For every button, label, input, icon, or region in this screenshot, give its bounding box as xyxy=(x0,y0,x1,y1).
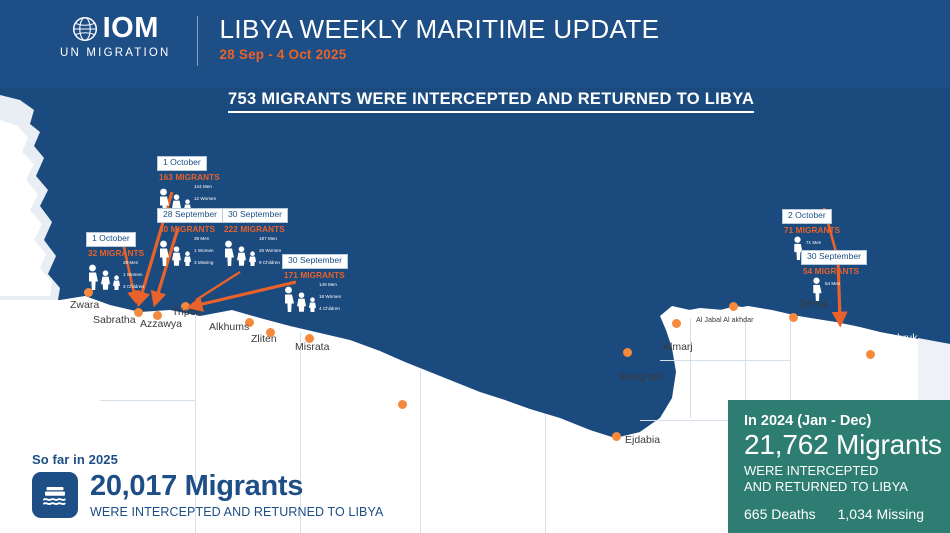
admin-border xyxy=(660,360,790,361)
callout-date: 1 October xyxy=(157,156,207,171)
city-dot-benghazi xyxy=(623,348,632,357)
city-label-ejdabia: Ejdabia xyxy=(625,434,660,446)
infographic-root: IOM UN MIGRATION LIBYA WEEKLY MARITIME U… xyxy=(0,0,950,533)
man-icon xyxy=(222,240,235,266)
panel-2024: In 2024 (Jan - Dec) 21,762 Migrants WERE… xyxy=(728,400,950,533)
stat-2025-block: So far in 2025 20,017 Migrants WERE INTE… xyxy=(32,452,383,519)
date-range: 28 Sep - 4 Oct 2025 xyxy=(220,47,660,62)
woman-icon xyxy=(236,246,247,266)
callout-date: 30 September xyxy=(801,250,867,265)
stat-2025-value: 20,017 Migrants xyxy=(90,472,383,501)
panel-2024-value: 21,762 Migrants xyxy=(744,430,950,460)
callout-event-3: 30 September 222 MIGRANTS 187 Men 26 Wom… xyxy=(222,204,288,266)
city-label-benghazi: Benghazi xyxy=(620,371,664,383)
city-dot-sirt xyxy=(398,400,407,409)
woman-icon xyxy=(171,246,182,266)
city-label-sirt: Sirt xyxy=(404,383,420,395)
callout-count: 54 MIGRANTS xyxy=(803,267,867,276)
city-dot-tobruk xyxy=(866,350,875,359)
woman-icon xyxy=(100,270,111,290)
man-icon xyxy=(282,286,295,312)
callout-event-2: 28 September 40 MIGRANTS 39 Men 1 Women … xyxy=(157,204,223,266)
panel-2024-label: In 2024 (Jan - Dec) xyxy=(744,413,950,429)
breakdown-men: 54 Men xyxy=(825,280,840,287)
child-icon xyxy=(112,275,121,290)
callout-count: 171 MIGRANTS xyxy=(284,271,348,280)
callout-count: 163 MIGRANTS xyxy=(159,173,220,182)
city-dot-ejdabia xyxy=(612,432,621,441)
callout-count: 40 MIGRANTS xyxy=(159,225,223,234)
child-icon xyxy=(308,297,317,312)
boat-icon xyxy=(32,472,78,518)
breakdown-men: 39 Men xyxy=(194,235,214,242)
header-divider xyxy=(197,16,198,66)
iom-logo: IOM UN MIGRATION xyxy=(60,14,171,59)
callout-date: 28 September xyxy=(157,208,223,223)
callout-event-0: 1 October 32 MIGRANTS 28 Men 1 Women 3 C… xyxy=(86,228,144,290)
admin-border xyxy=(420,370,421,533)
breakdown-women: 1 Women xyxy=(123,271,144,278)
callout-event-4: 30 September 171 MIGRANTS 149 Men 18 Wom… xyxy=(282,250,348,312)
child-icon xyxy=(183,251,192,266)
breakdown-missing: 3 Missing xyxy=(194,259,214,266)
breakdown-men: 187 Men xyxy=(259,235,281,242)
panel-2024-deaths: 665 Deaths xyxy=(744,506,816,522)
panel-2024-sub-line1: WERE INTERCEPTED xyxy=(744,463,950,479)
iom-wordmark: IOM xyxy=(103,14,159,43)
breakdown-children: 9 Children xyxy=(259,259,281,266)
breakdown-children: 3 Children xyxy=(123,283,144,290)
breakdown-women: 26 Women xyxy=(259,247,281,254)
woman-icon xyxy=(296,292,307,312)
callout-date: 2 October xyxy=(782,209,832,224)
breakdown-women: 1 Women xyxy=(194,247,214,254)
breakdown-men: 149 Men xyxy=(319,281,341,288)
page-title: LIBYA WEEKLY MARITIME UPDATE xyxy=(220,16,660,43)
breakdown-men: 144 Men xyxy=(194,183,216,190)
panel-2024-sub-line2: AND RETURNED TO LIBYA xyxy=(744,479,950,495)
panel-2024-missing: 1,034 Missing xyxy=(838,506,924,522)
child-icon xyxy=(248,251,257,266)
header-bar: IOM UN MIGRATION LIBYA WEEKLY MARITIME U… xyxy=(0,0,950,88)
city-label-almarj: Almarj xyxy=(663,341,693,353)
callout-count: 32 MIGRANTS xyxy=(88,249,144,258)
callout-count: 71 MIGRANTS xyxy=(784,226,840,235)
city-label-misrata: Misrata xyxy=(295,341,329,353)
callout-date: 30 September xyxy=(222,208,288,223)
admin-border xyxy=(100,400,196,401)
breakdown-men: 28 Men xyxy=(123,259,144,266)
callout-event-6: 30 September 54 MIGRANTS 54 Men xyxy=(801,246,867,301)
callout-count: 222 MIGRANTS xyxy=(224,225,288,234)
breakdown-women: 12 Women xyxy=(194,195,216,202)
callout-date: 30 September xyxy=(282,254,348,269)
headline-banner: 753 MIGRANTS WERE INTERCEPTED AND RETURN… xyxy=(228,90,754,113)
man-icon xyxy=(810,277,823,301)
man-icon xyxy=(157,240,170,266)
man-icon xyxy=(86,264,99,290)
stat-2025-sub: WERE INTERCEPTED AND RETURNED TO LIBYA xyxy=(90,505,383,519)
breakdown-women: 18 Women xyxy=(319,293,341,300)
callout-date: 1 October xyxy=(86,232,136,247)
admin-border xyxy=(545,414,546,533)
globe-icon xyxy=(72,16,98,42)
stat-2025-label: So far in 2025 xyxy=(32,452,383,467)
breakdown-children: 4 Children xyxy=(319,305,341,312)
iom-tagline: UN MIGRATION xyxy=(60,47,171,59)
